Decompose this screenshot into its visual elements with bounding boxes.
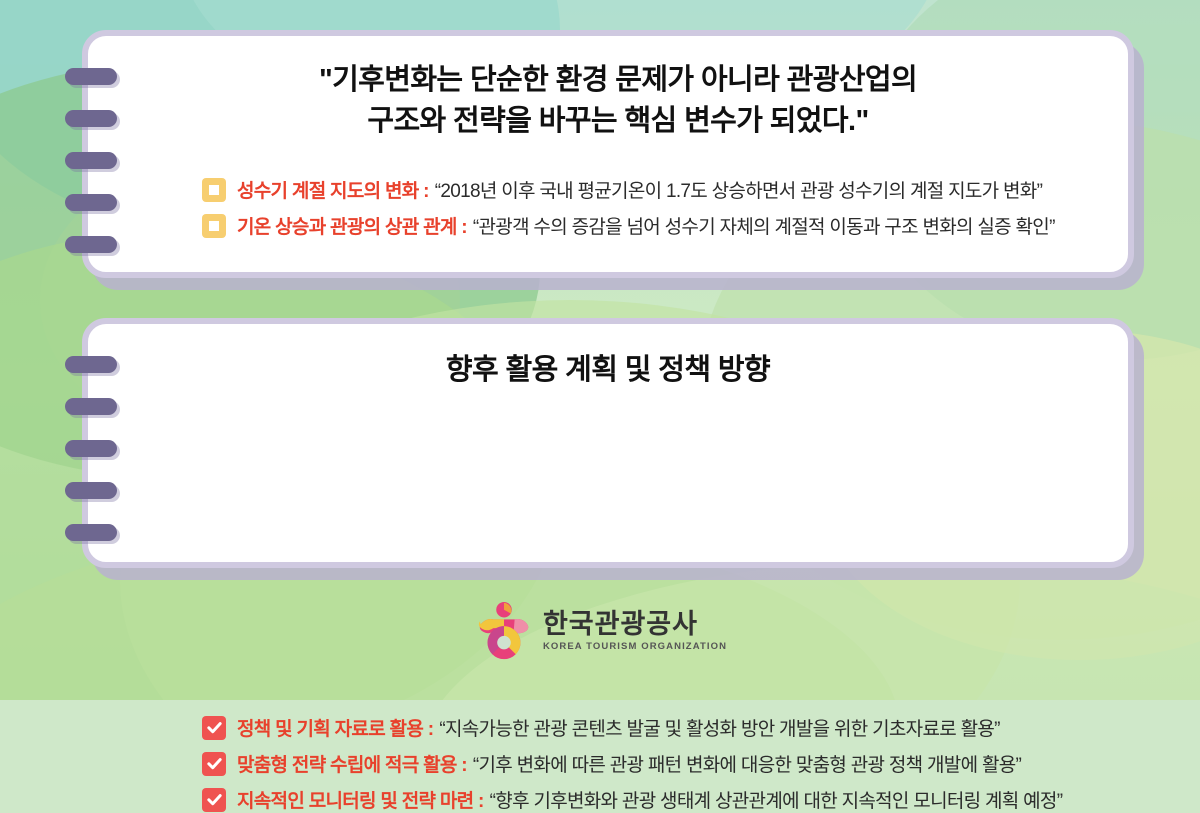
- quote-card: "기후변화는 단순한 환경 문제가 아니라 관광산업의 구조와 전략을 바꾸는 …: [82, 30, 1134, 278]
- list-item-label: 성수기 계절 지도의 변화 :: [237, 176, 429, 203]
- check-icon: [202, 716, 226, 740]
- check-icon: [202, 752, 226, 776]
- list-item-label: 정책 및 기획 자료로 활용 :: [237, 714, 433, 741]
- binder-ring: [65, 482, 117, 499]
- plan-card-rows: 정책 및 기획 자료로 활용 : “지속가능한 관광 콘텐츠 발굴 및 활성화 …: [202, 714, 1106, 813]
- square-bullet-icon: [202, 214, 226, 238]
- list-item-value: “향후 기후변화와 관광 생태계 상관관계에 대한 지속적인 모니터링 계획 예…: [490, 786, 1063, 813]
- binder-ring: [65, 356, 117, 373]
- list-item-label: 맞춤형 전략 수립에 적극 활용 :: [237, 750, 467, 777]
- list-item: 성수기 계절 지도의 변화 : “2018년 이후 국내 평균기온이 1.7도 …: [202, 176, 1106, 203]
- korea-tourism-organization-logo-icon: [473, 600, 535, 662]
- list-item: 기온 상승과 관광의 상관 관계 : “관광객 수의 증감을 넘어 성수기 자체…: [202, 212, 1106, 239]
- list-item-value: “지속가능한 관광 콘텐츠 발굴 및 활성화 방안 개발을 위한 기초자료로 활…: [439, 714, 999, 741]
- organization-logo: 한국관광공사 KOREA TOURISM ORGANIZATION: [0, 600, 1200, 662]
- binder-ring: [65, 524, 117, 541]
- logo-korean-name: 한국관광공사: [543, 610, 727, 638]
- binder-ring: [65, 110, 117, 127]
- binder-ring: [65, 194, 117, 211]
- binder-ring: [65, 68, 117, 85]
- list-item: 지속적인 모니터링 및 전략 마련 : “향후 기후변화와 관광 생태계 상관관…: [202, 786, 1106, 813]
- quote-card-rows: 성수기 계절 지도의 변화 : “2018년 이후 국내 평균기온이 1.7도 …: [202, 176, 1106, 239]
- logo-text-block: 한국관광공사 KOREA TOURISM ORGANIZATION: [543, 610, 727, 651]
- list-item-value: “관광객 수의 증감을 넘어 성수기 자체의 계절적 이동과 구조 변화의 실증…: [473, 212, 1055, 239]
- list-item-value: “기후 변화에 따른 관광 패턴 변화에 대응한 맞춤형 관광 정책 개발에 활…: [473, 750, 1021, 777]
- quote-headline: "기후변화는 단순한 환경 문제가 아니라 관광산업의 구조와 전략을 바꾸는 …: [142, 60, 1094, 142]
- plan-card-title: 향후 활용 계획 및 정책 방향: [82, 346, 1134, 388]
- binder-ring: [65, 152, 117, 169]
- list-item: 맞춤형 전략 수립에 적극 활용 : “기후 변화에 따른 관광 패턴 변화에 …: [202, 750, 1106, 777]
- binder-ring: [65, 398, 117, 415]
- logo-english-name: KOREA TOURISM ORGANIZATION: [543, 641, 727, 652]
- list-item-label: 기온 상승과 관광의 상관 관계 :: [237, 212, 467, 239]
- plan-card: 향후 활용 계획 및 정책 방향 정책 및 기획 자료로 활용 : “지속가능한…: [82, 318, 1134, 568]
- list-item-value: “2018년 이후 국내 평균기온이 1.7도 상승하면서 관광 성수기의 계절…: [435, 176, 1042, 203]
- binder-ring: [65, 236, 117, 253]
- list-item-label: 지속적인 모니터링 및 전략 마련 :: [237, 786, 484, 813]
- check-icon: [202, 788, 226, 812]
- binder-ring: [65, 440, 117, 457]
- list-item: 정책 및 기획 자료로 활용 : “지속가능한 관광 콘텐츠 발굴 및 활성화 …: [202, 714, 1106, 741]
- square-bullet-icon: [202, 178, 226, 202]
